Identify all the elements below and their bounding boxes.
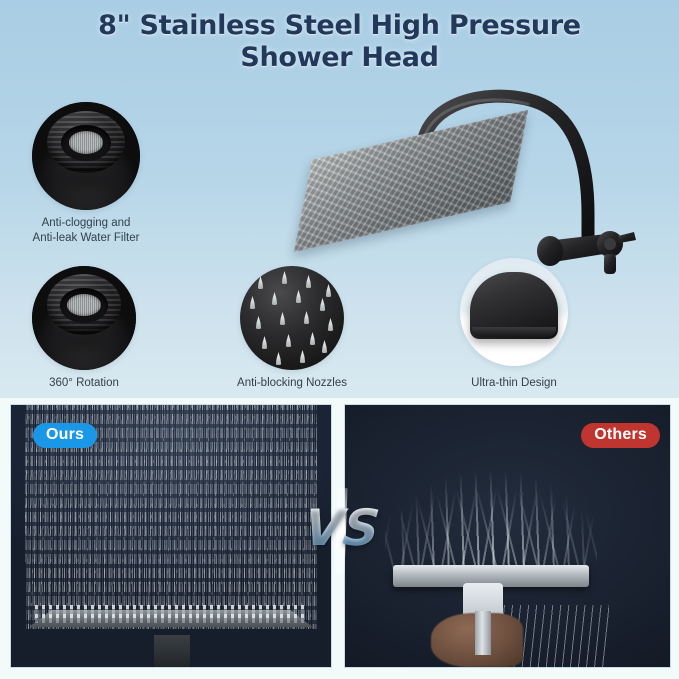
feature-rotation-label: 360° Rotation <box>49 376 119 391</box>
silicone-nozzle-face-icon <box>240 266 344 370</box>
title-line-1: 8" Stainless Steel High Pressure <box>0 10 679 42</box>
feature-ultra-thin: Ultra-thin Design <box>460 258 568 366</box>
threaded-swivel-fitting-icon <box>32 266 136 370</box>
others-handle-pipe <box>475 611 491 655</box>
page-title: 8" Stainless Steel High Pressure Shower … <box>0 10 679 74</box>
title-line-2: Shower Head <box>0 42 679 74</box>
feature-nozzles-label: Anti-blocking Nozzles <box>237 376 347 391</box>
vs-label: VS <box>294 497 391 559</box>
badge-others: Others <box>581 423 660 448</box>
product-infographic: 8" Stainless Steel High Pressure Shower … <box>0 0 679 679</box>
comparison-panel-others: Others <box>344 404 671 668</box>
others-spray-fan-secondary <box>385 487 597 575</box>
feature-water-filter: Anti-clogging and Anti-leak Water Filter <box>32 102 140 210</box>
threaded-fitting-with-mesh-filter-icon <box>32 102 140 210</box>
upper-section: 8" Stainless Steel High Pressure Shower … <box>0 0 679 400</box>
feature-water-filter-label-1: Anti-clogging and <box>33 216 140 231</box>
ours-nozzle-row <box>35 605 307 623</box>
feature-water-filter-label-2: Anti-leak Water Filter <box>33 231 140 246</box>
feature-ultra-thin-label: Ultra-thin Design <box>471 376 557 391</box>
feature-rotation: 360° Rotation <box>32 266 136 370</box>
feature-nozzles: Anti-blocking Nozzles <box>240 266 344 370</box>
badge-ours: Ours <box>33 423 97 448</box>
comparison-panel-ours: Ours <box>10 404 332 668</box>
thin-slab-profile-icon <box>460 258 568 366</box>
ours-stem <box>154 635 190 667</box>
